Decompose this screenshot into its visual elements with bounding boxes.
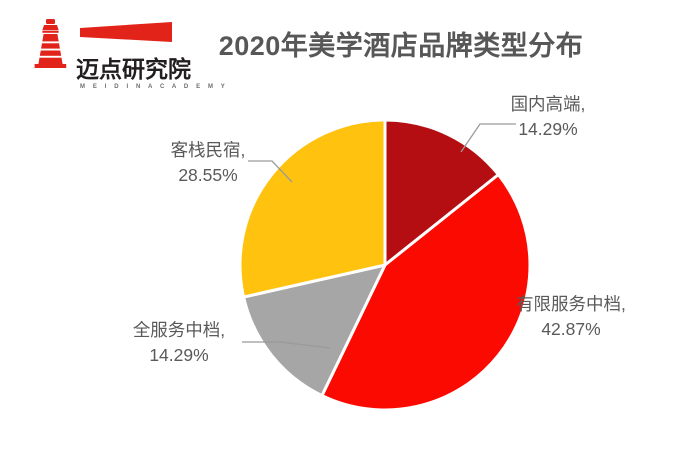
slice-label-youxian-name: 有限服务中档,: [496, 292, 646, 317]
slice-label-kezhan: 客栈民宿, 28.55%: [138, 138, 278, 188]
pie-slice-group: [240, 120, 530, 410]
slice-label-guonei: 国内高端, 14.29%: [478, 92, 618, 142]
pie-chart-svg: [0, 0, 700, 451]
slice-label-guonei-name: 国内高端,: [478, 92, 618, 117]
slice-label-quanfuwu-name: 全服务中档,: [104, 318, 254, 343]
slice-label-kezhan-value: 28.55%: [138, 163, 278, 188]
slice-label-guonei-value: 14.29%: [478, 117, 618, 142]
slice-label-quanfuwu-value: 14.29%: [104, 343, 254, 368]
pie-chart: 国内高端, 14.29% 有限服务中档, 42.87% 全服务中档, 14.29…: [0, 0, 700, 451]
slice-label-youxian-value: 42.87%: [496, 317, 646, 342]
slice-label-kezhan-name: 客栈民宿,: [138, 138, 278, 163]
slice-label-youxian: 有限服务中档, 42.87%: [496, 292, 646, 342]
slice-label-quanfuwu: 全服务中档, 14.29%: [104, 318, 254, 368]
